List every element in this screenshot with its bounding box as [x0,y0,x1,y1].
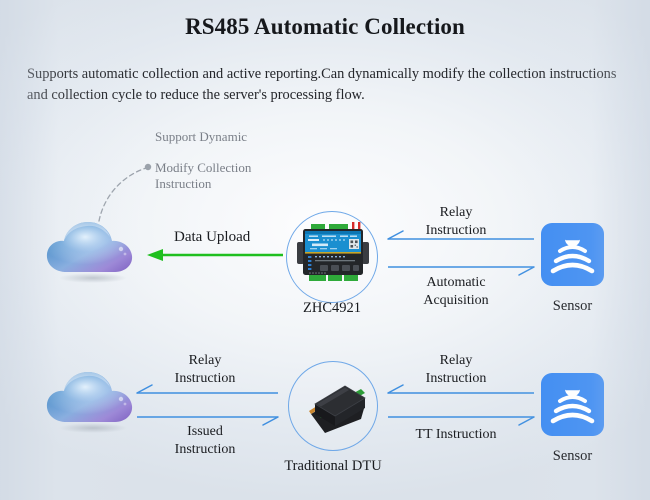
cloud-icon-server-top [43,218,139,284]
zhc4921-device-image [296,222,370,284]
endpoint-caption-sensor-top: Sensor [521,298,624,315]
flow-label-relay-instruction-top-line1: Relay [396,204,516,222]
page-title: RS485 Automatic Collection [0,14,650,40]
page-description: Supports automatic collection and active… [27,64,627,106]
annotation-dashed-curve [99,168,146,221]
traditional-dtu-device-image [297,372,369,440]
flow-arrow-tt-instruction [388,417,534,425]
flow-label-automatic-acquisition-line2: Acquisition [396,292,516,310]
cloud-icon-server-bottom [43,368,139,434]
flow-label-relay-instruction-left-line2: Instruction [145,370,265,388]
annotation-line-1: Support Dynamic [155,128,247,146]
flow-label-relay-instruction-right-line1: Relay [396,352,516,370]
flow-label-issued-instruction-line2: Instruction [145,441,265,459]
sensor-wave-icon-top [541,223,604,286]
diagram-page: RS485 Automatic Collection Supports auto… [0,0,650,500]
flow-label-issued-instruction-line1: Issued [145,423,265,441]
endpoint-caption-sensor-bottom: Sensor [521,448,624,465]
device-caption-zhc4921: ZHC4921 [286,300,378,317]
annotation-dot [145,164,151,170]
flow-arrow-data-upload [147,249,283,261]
flow-label-data-upload: Data Upload [174,228,250,246]
flow-label-automatic-acquisition-line1: Automatic [396,274,516,292]
annotation-line-3: Instruction [155,175,211,193]
flow-label-relay-instruction-top-line2: Instruction [396,222,516,240]
device-caption-traditional-dtu: Traditional DTU [271,458,395,475]
flow-label-tt-instruction: TT Instruction [396,426,516,444]
flow-label-relay-instruction-right-line2: Instruction [396,370,516,388]
sensor-wave-icon-bottom [541,373,604,436]
flow-label-relay-instruction-left-line1: Relay [145,352,265,370]
